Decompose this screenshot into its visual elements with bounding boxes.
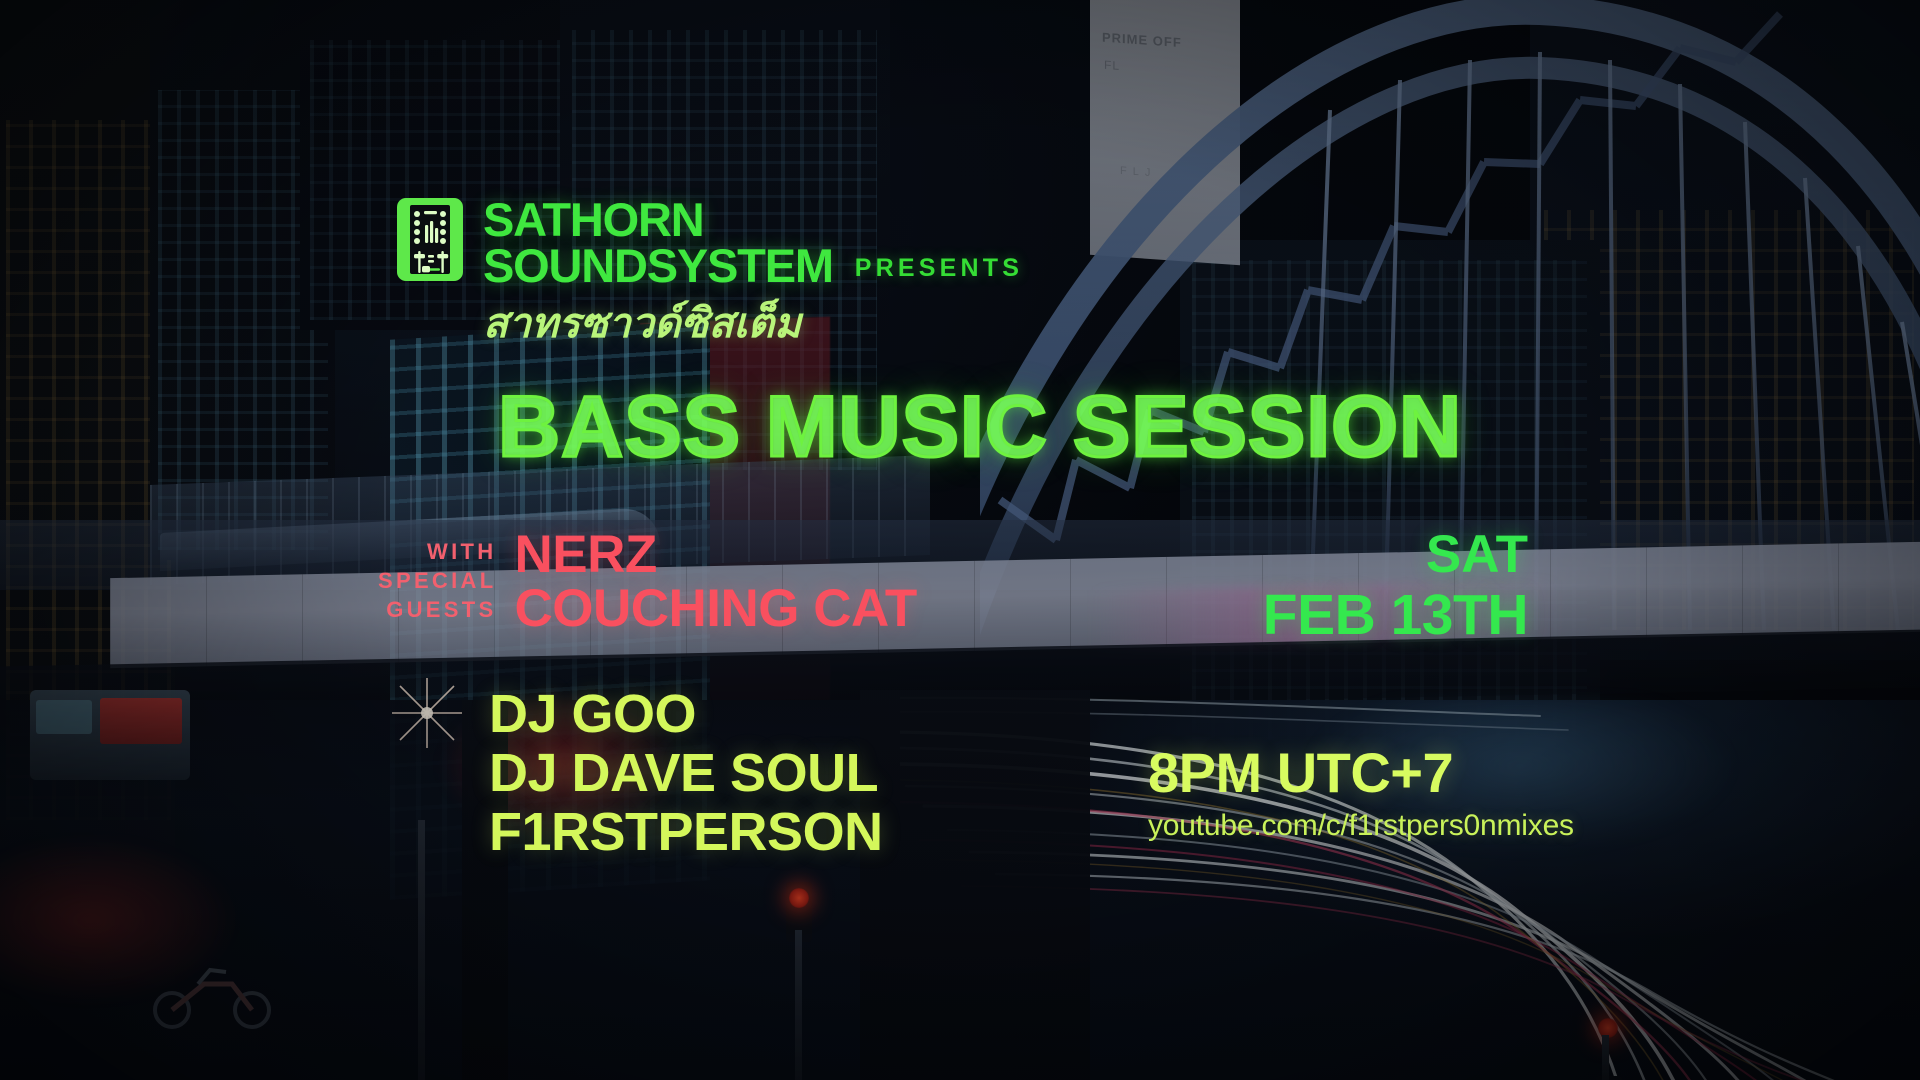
- event-date: SAT FEB 13TH: [1263, 528, 1528, 644]
- brand-name-row2: SOUNDSYSTEM PRESENTS: [483, 243, 1023, 289]
- stream-url[interactable]: youtube.com/c/f1rstpers0nmixes: [1148, 809, 1574, 843]
- guests-label-line2: SPECIAL: [378, 566, 496, 595]
- brand-name-line1: SATHORN: [483, 197, 1023, 243]
- guest-name: NERZ: [514, 528, 916, 582]
- guests-label: WITH SPECIAL GUESTS: [378, 528, 496, 624]
- guests-label-line3: GUESTS: [378, 595, 496, 624]
- special-guests-block: WITH SPECIAL GUESTS NERZ COUCHING CAT: [378, 528, 917, 636]
- guests-names: NERZ COUCHING CAT: [514, 528, 916, 636]
- event-poster: PRIME OFF FL FLJ: [0, 0, 1920, 1080]
- dj-mixer-icon: [396, 197, 464, 282]
- event-day-of-week: SAT: [1263, 528, 1528, 581]
- lineup-artist: DJ GOO: [489, 685, 883, 744]
- event-day-month: FEB 13TH: [1263, 587, 1528, 644]
- dj-mixer-icon-svg: [396, 197, 464, 282]
- time-and-link-block: 8PM UTC+7 youtube.com/c/f1rstpers0nmixes: [1148, 745, 1574, 843]
- presents-label: PRESENTS: [855, 254, 1023, 288]
- guest-name: COUCHING CAT: [514, 582, 916, 636]
- guests-label-line1: WITH: [378, 537, 496, 566]
- poster-content: SATHORN SOUNDSYSTEM PRESENTS สาทรซาวด์ซิ…: [0, 0, 1920, 1080]
- dj-lineup: DJ GOO DJ DAVE SOUL F1RSTPERSON: [489, 685, 883, 862]
- brand-text: SATHORN SOUNDSYSTEM PRESENTS สาทรซาวด์ซิ…: [483, 197, 1023, 356]
- brand-name-thai: สาทรซาวด์ซิสเต็ม: [483, 291, 1023, 356]
- brand-name-line2: SOUNDSYSTEM: [483, 243, 833, 289]
- lineup-artist: F1RSTPERSON: [489, 803, 883, 862]
- event-time: 8PM UTC+7: [1148, 745, 1574, 801]
- lineup-artist: DJ DAVE SOUL: [489, 744, 883, 803]
- brand-lockup: SATHORN SOUNDSYSTEM PRESENTS สาทรซาวด์ซิ…: [396, 197, 1023, 356]
- page-title: BASS MUSIC SESSION: [498, 378, 1462, 477]
